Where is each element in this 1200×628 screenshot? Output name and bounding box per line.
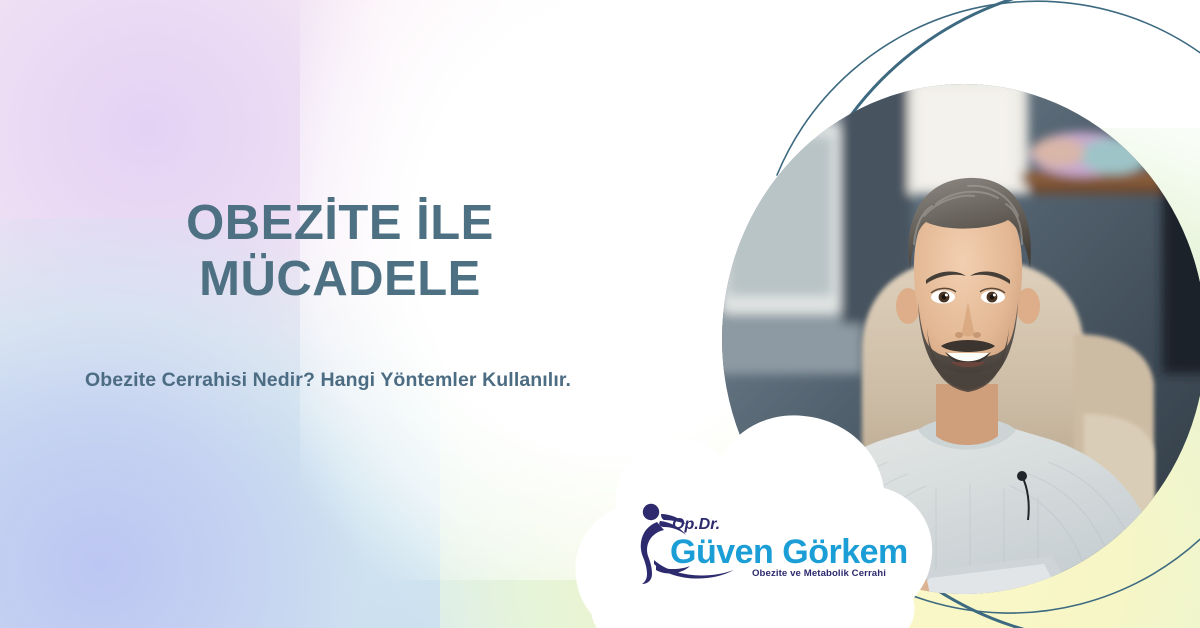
promo-banner: OBEZİTE İLE MÜCADELE Obezite Cerrahisi N… xyxy=(0,0,1200,628)
logo-tagline: Obezite ve Metabolik Cerrahi xyxy=(752,568,886,579)
brand-logo[interactable]: Op.Dr. Güven Görkem Obezite ve Metabolik… xyxy=(630,500,910,586)
page-subtitle: Obezite Cerrahisi Nedir? Hangi Yöntemler… xyxy=(58,366,598,394)
page-title-line-2: MÜCADELE xyxy=(60,252,620,308)
headline-block: OBEZİTE İLE MÜCADELE xyxy=(60,196,620,308)
cloud-path-base xyxy=(591,594,915,628)
page-title-line-1: OBEZİTE İLE xyxy=(60,196,620,252)
subheadline-block: Obezite Cerrahisi Nedir? Hangi Yöntemler… xyxy=(58,366,598,394)
logo-name: Güven Görkem xyxy=(670,533,908,571)
logo-prefix: Op.Dr. xyxy=(672,516,720,533)
